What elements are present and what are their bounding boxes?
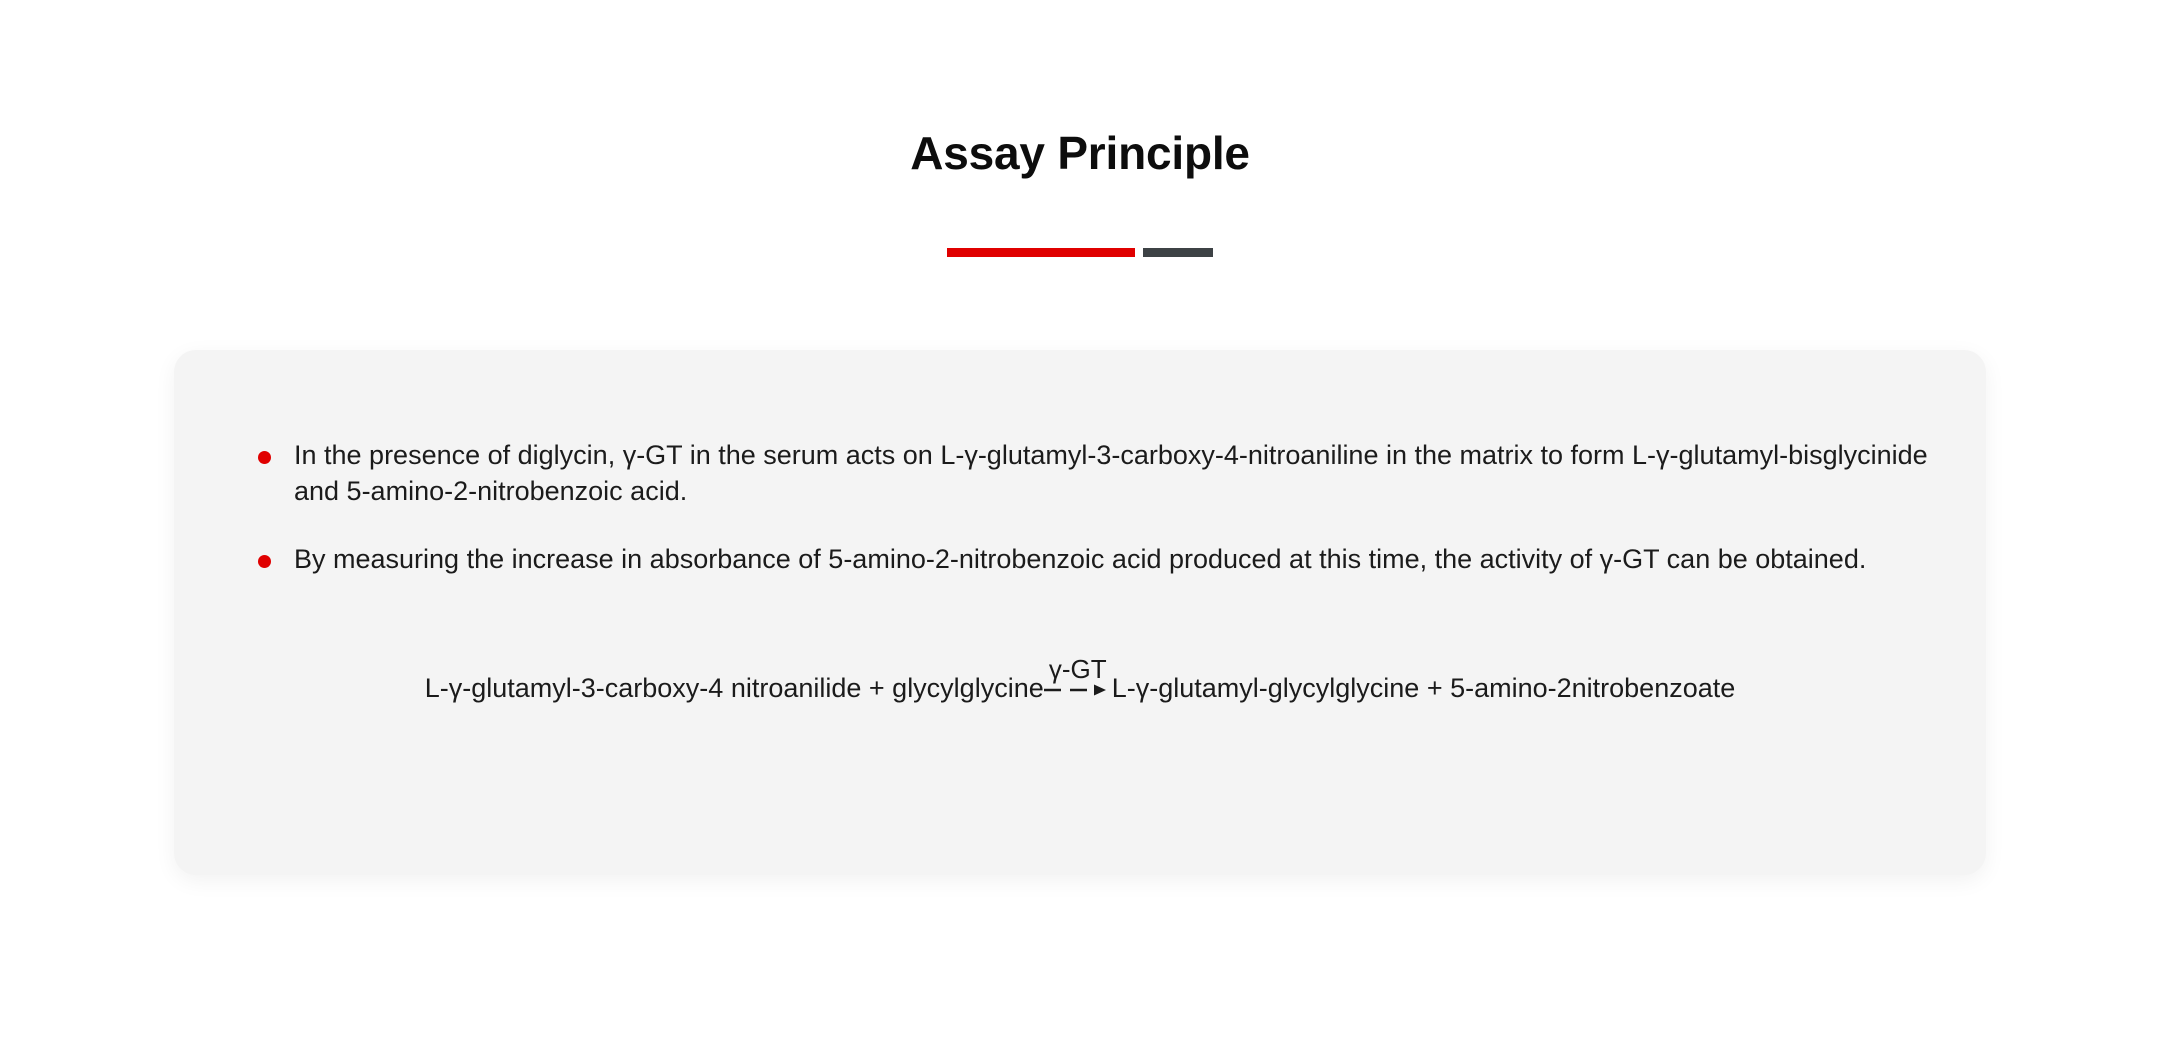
equation-enzyme-label: γ-GT: [1049, 654, 1107, 685]
list-item: By measuring the increase in absorbance …: [250, 542, 1930, 578]
content-card: In the presence of diglycin, γ-GT in the…: [174, 350, 1986, 875]
divider-red-segment: [947, 248, 1135, 257]
title-block: Assay Principle: [0, 128, 2160, 179]
bullet-list: In the presence of diglycin, γ-GT in the…: [250, 438, 1930, 578]
divider-gray-segment: [1143, 248, 1213, 257]
equation-reactants: L-γ-glutamyl-3-carboxy-4 nitroanilide + …: [425, 672, 1044, 706]
dashed-arrow-right-icon: [1044, 682, 1112, 698]
list-item: In the presence of diglycin, γ-GT in the…: [250, 438, 1930, 510]
bullet-dot-icon: [258, 555, 271, 568]
equation-arrow-group: γ-GT: [1044, 658, 1112, 706]
title-divider: [0, 248, 2160, 257]
reaction-equation: L-γ-glutamyl-3-carboxy-4 nitroanilide + …: [174, 658, 1986, 706]
list-item-text: By measuring the increase in absorbance …: [294, 544, 1866, 574]
list-item-text: In the presence of diglycin, γ-GT in the…: [294, 440, 1928, 506]
page-title: Assay Principle: [0, 128, 2160, 179]
slide-root: Assay Principle In the presence of digly…: [0, 0, 2160, 1050]
equation-line: L-γ-glutamyl-3-carboxy-4 nitroanilide + …: [425, 658, 1736, 706]
bullet-dot-icon: [258, 451, 271, 464]
equation-products: L-γ-glutamyl-glycylglycine + 5-amino-2ni…: [1112, 672, 1736, 706]
